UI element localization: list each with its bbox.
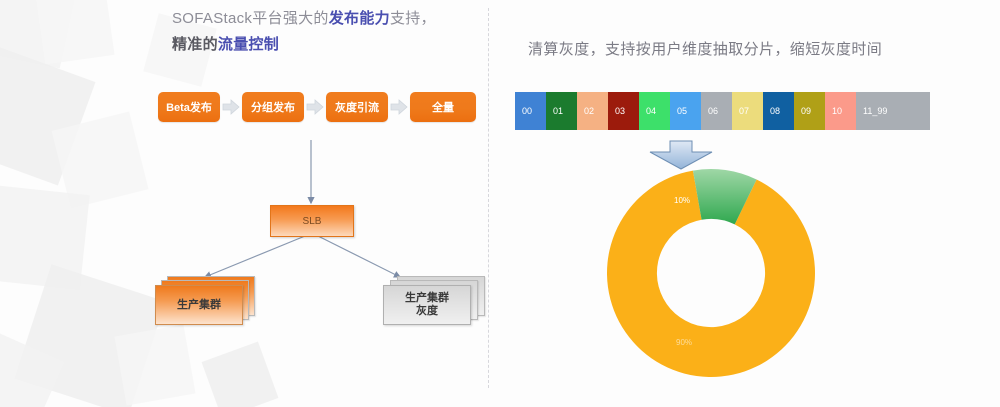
shard-segment-label: 01: [553, 106, 563, 116]
release-flow: Beta发布 分组发布 灰度引流 全量: [158, 92, 476, 122]
flow-step-gray[interactable]: 灰度引流: [326, 92, 388, 122]
shard-color-strip: 000102030405060708091011_99: [515, 92, 930, 130]
left-panel: SOFAStack平台强大的发布能力支持， 精准的流量控制 Beta发布 分组发…: [0, 0, 488, 407]
shard-segment-label: 04: [646, 106, 656, 116]
gray-release-donut: [606, 168, 816, 383]
shard-segment-08[interactable]: 08: [763, 92, 794, 130]
shard-segment-01[interactable]: 01: [546, 92, 577, 130]
headline-suffix: 支持，: [390, 10, 436, 27]
headline-highlight-1: 发布能力: [329, 10, 390, 27]
flow-connectors: [0, 0, 488, 407]
shard-segment-07[interactable]: 07: [732, 92, 763, 130]
shard-segment-label: 09: [801, 106, 811, 116]
slide-canvas: SOFAStack平台强大的发布能力支持， 精准的流量控制 Beta发布 分组发…: [0, 0, 1000, 407]
shard-segment-10[interactable]: 10: [825, 92, 856, 130]
production-cluster-gray-label-line2: 灰度: [416, 305, 438, 318]
production-cluster-label: 生产集群: [177, 299, 221, 312]
shard-segment-00[interactable]: 00: [515, 92, 546, 130]
right-title: 清算灰度，支持按用户维度抽取分片，缩短灰度时间: [528, 38, 882, 59]
chevron-right-icon: [388, 99, 410, 115]
shard-segment-02[interactable]: 02: [577, 92, 608, 130]
donut-label-full: 90%: [676, 338, 692, 347]
shard-segment-label: 08: [770, 106, 780, 116]
slb-label: SLB: [303, 216, 322, 227]
slb-node[interactable]: SLB: [270, 205, 354, 237]
shard-segment-11_99[interactable]: 11_99: [856, 92, 930, 130]
donut-label-gray: 10%: [674, 196, 690, 205]
chevron-right-icon: [220, 99, 242, 115]
flow-step-group[interactable]: 分组发布: [242, 92, 304, 122]
shard-segment-label: 05: [677, 106, 687, 116]
shard-segment-03[interactable]: 03: [608, 92, 639, 130]
shard-segment-label: 11_99: [863, 106, 887, 116]
production-cluster-node[interactable]: 生产集群: [155, 276, 255, 328]
flow-step-beta[interactable]: Beta发布: [158, 92, 220, 122]
left-headline: SOFAStack平台强大的发布能力支持， 精准的流量控制: [172, 6, 472, 58]
shard-segment-04[interactable]: 04: [639, 92, 670, 130]
headline-prefix-2: 精准的: [172, 36, 218, 53]
shard-segment-label: 07: [739, 106, 749, 116]
flow-step-full[interactable]: 全量: [410, 92, 476, 122]
shard-segment-label: 03: [615, 106, 625, 116]
shard-segment-05[interactable]: 05: [670, 92, 701, 130]
headline-prefix: SOFAStack平台强大的: [172, 10, 329, 27]
shard-segment-label: 02: [584, 106, 594, 116]
headline-highlight-2: 流量控制: [218, 36, 279, 53]
shard-segment-label: 10: [832, 106, 842, 116]
production-cluster-gray-label-line1: 生产集群: [405, 292, 449, 305]
shard-segment-label: 00: [522, 106, 532, 116]
shard-segment-09[interactable]: 09: [794, 92, 825, 130]
chevron-right-icon: [304, 99, 326, 115]
shard-segment-label: 06: [708, 106, 718, 116]
shard-segment-06[interactable]: 06: [701, 92, 732, 130]
production-cluster-gray-node[interactable]: 生产集群 灰度: [383, 276, 487, 328]
right-panel: 清算灰度，支持按用户维度抽取分片，缩短灰度时间 0001020304050607…: [488, 0, 1000, 407]
